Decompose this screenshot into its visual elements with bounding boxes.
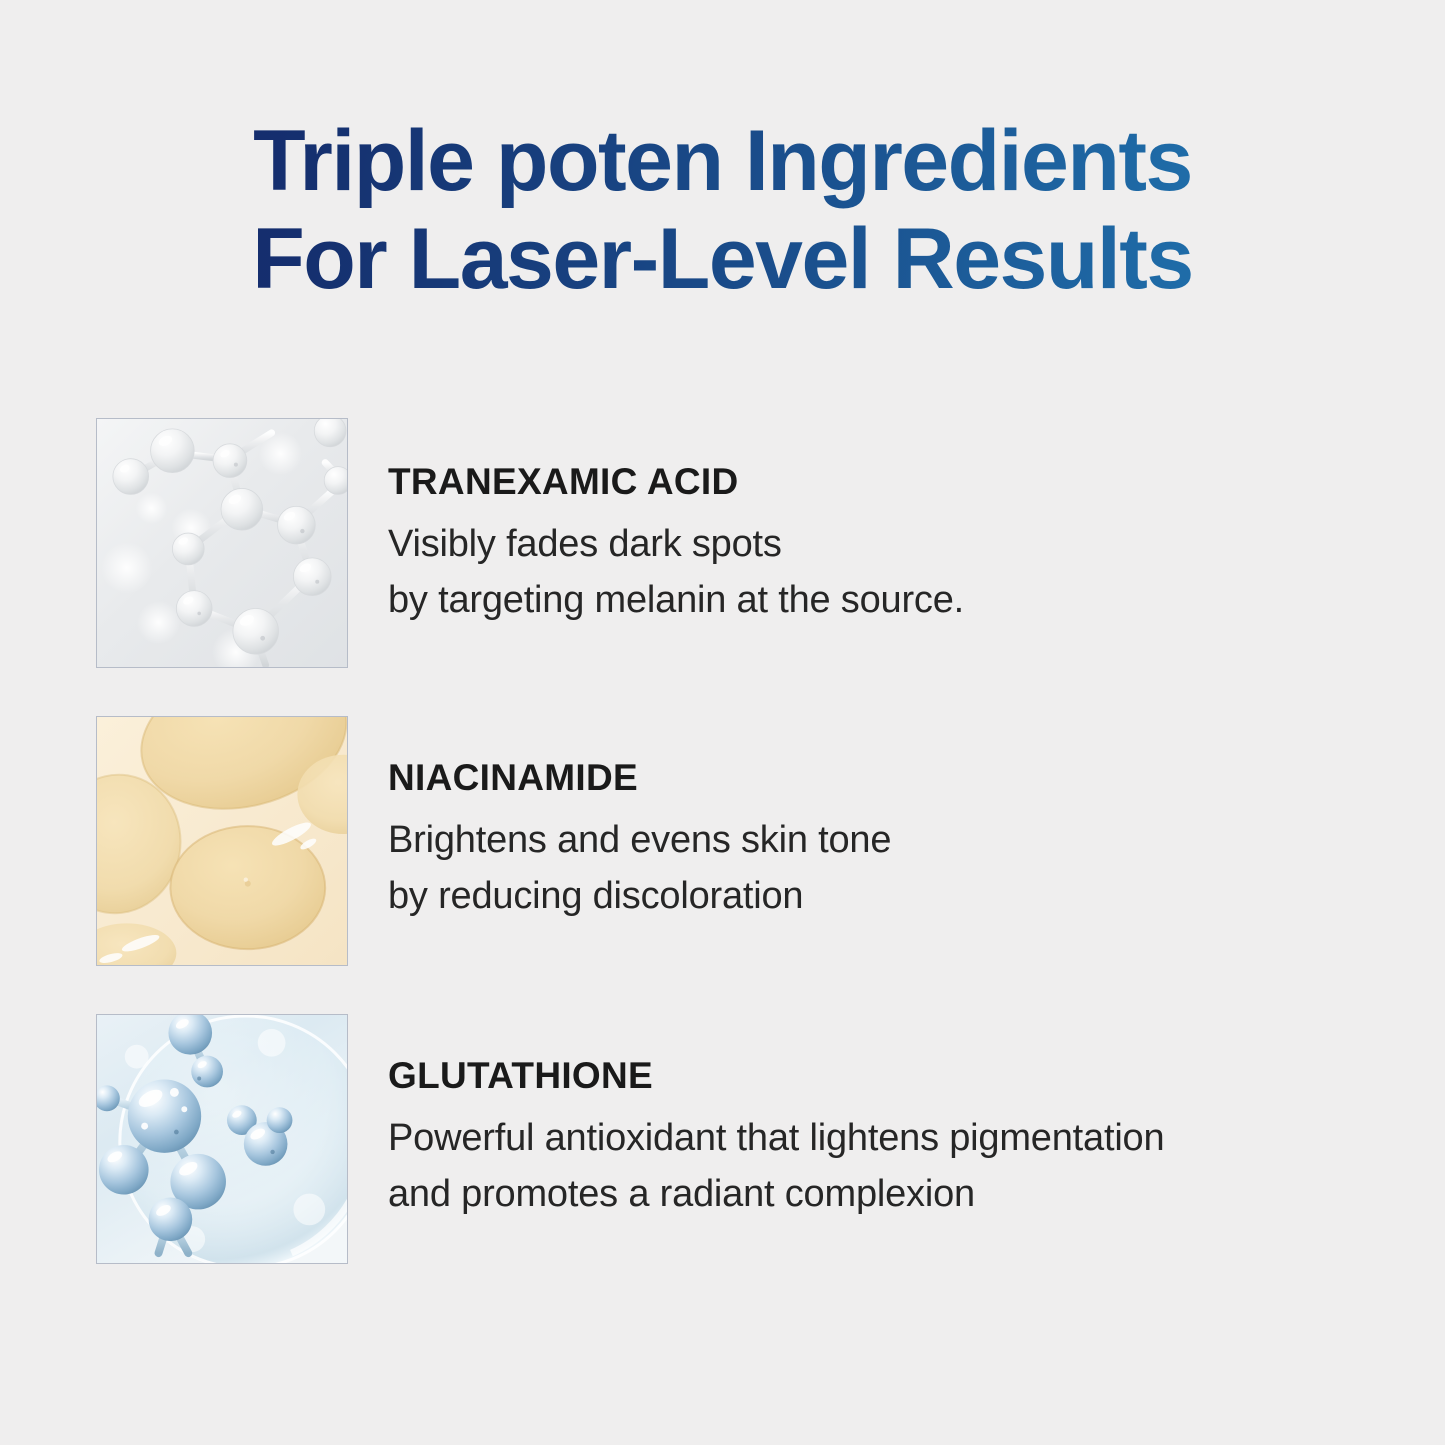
page-title: Triple poten Ingredients For Laser-Level… [0,112,1445,308]
blue-molecules-bubble-image [96,1014,348,1264]
ingredient-name: NIACINAMIDE [388,756,1368,800]
ingredient-list: TRANEXAMIC ACID Visibly fades dark spots… [96,418,1376,1312]
infographic-page: Triple poten Ingredients For Laser-Level… [0,0,1445,1445]
ingredient-name: TRANEXAMIC ACID [388,460,1368,504]
ingredient-description: Brightens and evens skin tone by reducin… [388,812,1368,924]
ingredient-text-block: GLUTATHIONE Powerful antioxidant that li… [388,1054,1368,1222]
headline-line-1: Triple poten Ingredients [0,112,1445,210]
ingredient-row: GLUTATHIONE Powerful antioxidant that li… [96,1014,1376,1264]
golden-serum-droplets-image [96,716,348,966]
molecular-lattice-white-image [96,418,348,668]
molecule-blue-bubble-icon [97,1015,347,1263]
serum-droplets-icon [97,717,347,965]
molecule-white-icon [97,419,347,667]
ingredient-description: Powerful antioxidant that lightens pigme… [388,1110,1368,1222]
headline-line-2: For Laser-Level Results [0,210,1445,308]
ingredient-text-block: TRANEXAMIC ACID Visibly fades dark spots… [388,460,1368,628]
ingredient-row: TRANEXAMIC ACID Visibly fades dark spots… [96,418,1376,668]
ingredient-text-block: NIACINAMIDE Brightens and evens skin ton… [388,756,1368,924]
ingredient-description: Visibly fades dark spots by targeting me… [388,516,1368,628]
ingredient-row: NIACINAMIDE Brightens and evens skin ton… [96,716,1376,966]
ingredient-name: GLUTATHIONE [388,1054,1368,1098]
